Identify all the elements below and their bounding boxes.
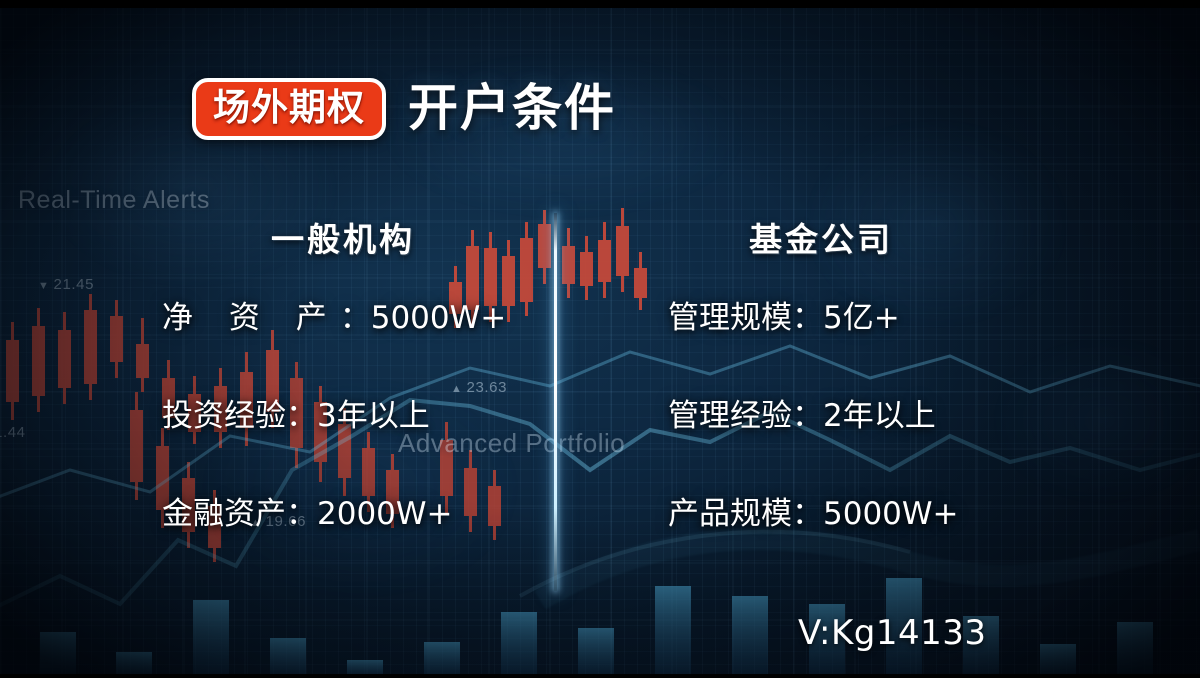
row-value: 5亿+ bbox=[823, 300, 900, 336]
row-separator: ： bbox=[792, 496, 823, 532]
column-header-left: 一般机构 bbox=[140, 213, 540, 261]
table-row: 金融资产：2000W+ bbox=[140, 499, 540, 530]
row-separator: ： bbox=[340, 300, 371, 336]
row-label: 金融资产 bbox=[162, 496, 286, 532]
row-label: 净 资 产 bbox=[162, 300, 340, 336]
watermark-contact: V:Kg14133 bbox=[798, 613, 986, 653]
table-row: 产品规模：5000W+ bbox=[640, 499, 1060, 530]
table-row: 投资经验：3年以上 bbox=[140, 401, 540, 432]
letterbox-top bbox=[0, 0, 1200, 8]
row-separator: ： bbox=[286, 496, 317, 532]
letterbox-bottom bbox=[0, 674, 1200, 678]
row-label: 管理规模 bbox=[668, 300, 792, 336]
table-row: 净 资 产：5000W+ bbox=[140, 303, 540, 334]
table-row: 管理规模：5亿+ bbox=[640, 303, 1060, 334]
row-value: 2000W+ bbox=[317, 496, 453, 532]
column-general-institution: 一般机构 净 资 产：5000W+ 投资经验：3年以上 金融资产：2000W+ bbox=[140, 213, 540, 530]
column-fund-company: 基金公司 管理规模：5亿+ 管理经验：2年以上 产品规模：5000W+ bbox=[640, 213, 1060, 530]
title-main-label: 开户条件 bbox=[408, 83, 616, 133]
slide-canvas: Real-Time Alerts Advanced Portfolio ▼21.… bbox=[0, 0, 1200, 678]
row-label: 管理经验 bbox=[668, 398, 792, 434]
row-value: 5000W+ bbox=[371, 300, 507, 336]
title-badge: 场外期权 bbox=[192, 78, 386, 140]
title-badge-label: 场外期权 bbox=[213, 89, 365, 126]
row-value: 5000W+ bbox=[823, 496, 959, 532]
column-left-rows: 净 资 产：5000W+ 投资经验：3年以上 金融资产：2000W+ bbox=[140, 303, 540, 530]
column-header-right: 基金公司 bbox=[640, 213, 1060, 261]
row-separator: ： bbox=[286, 398, 317, 434]
column-right-rows: 管理规模：5亿+ 管理经验：2年以上 产品规模：5000W+ bbox=[640, 303, 1060, 530]
row-label: 产品规模 bbox=[668, 496, 792, 532]
row-value: 2年以上 bbox=[823, 398, 936, 434]
row-value: 3年以上 bbox=[317, 398, 430, 434]
row-label: 投资经验 bbox=[162, 398, 286, 434]
row-separator: ： bbox=[792, 398, 823, 434]
page-title: 场外期权 开户条件 bbox=[192, 78, 616, 140]
table-row: 管理经验：2年以上 bbox=[640, 401, 1060, 432]
row-separator: ： bbox=[792, 300, 823, 336]
